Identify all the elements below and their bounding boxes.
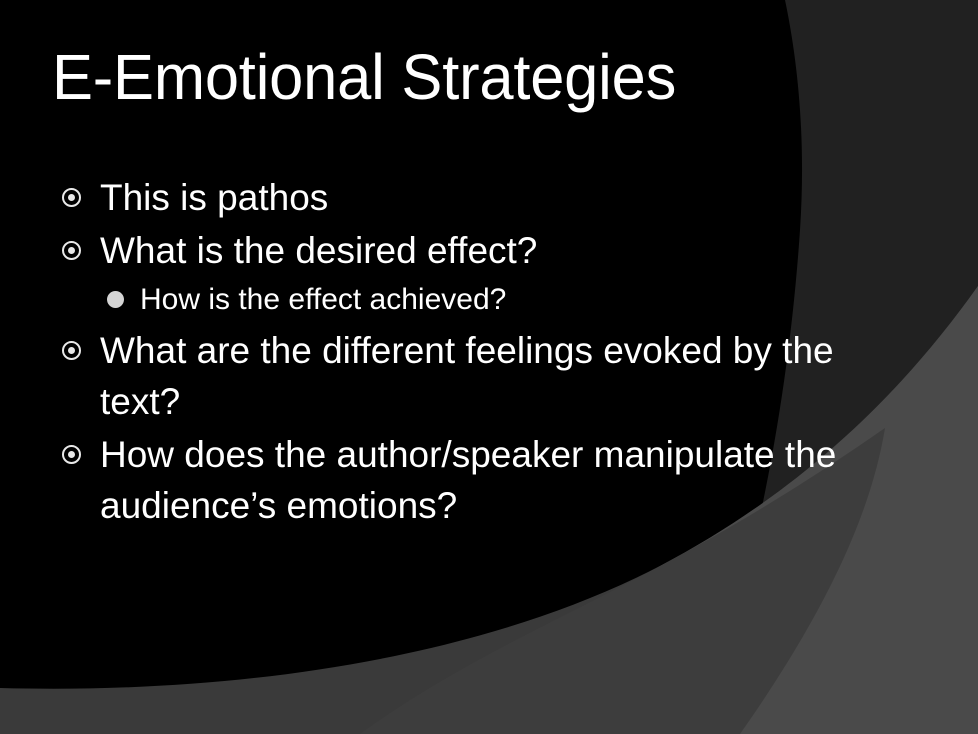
presentation-slide: E-Emotional Strategies This is pathos Wh… bbox=[0, 0, 978, 734]
list-item-label: What is the desired effect? bbox=[100, 225, 537, 276]
list-item: What is the desired effect? bbox=[52, 225, 882, 276]
list-item-label: How does the author/speaker manipulate t… bbox=[100, 429, 882, 531]
list-item: What are the different feelings evoked b… bbox=[52, 325, 882, 427]
ring-dot-bullet-icon bbox=[52, 325, 90, 376]
list-item-label: What are the different feelings evoked b… bbox=[100, 325, 882, 427]
page-title: E-Emotional Strategies bbox=[52, 42, 676, 114]
bullet-list: This is pathos What is the desired effec… bbox=[52, 172, 882, 533]
list-item-label: How is the effect achieved? bbox=[140, 278, 506, 321]
list-item: How is the effect achieved? bbox=[98, 278, 882, 321]
ring-dot-bullet-icon bbox=[52, 172, 90, 223]
list-item: How does the author/speaker manipulate t… bbox=[52, 429, 882, 531]
list-item-label: This is pathos bbox=[100, 172, 328, 223]
ring-dot-bullet-icon bbox=[52, 429, 90, 480]
list-item: This is pathos bbox=[52, 172, 882, 223]
filled-circle-bullet-icon bbox=[98, 278, 132, 321]
ring-dot-bullet-icon bbox=[52, 225, 90, 276]
